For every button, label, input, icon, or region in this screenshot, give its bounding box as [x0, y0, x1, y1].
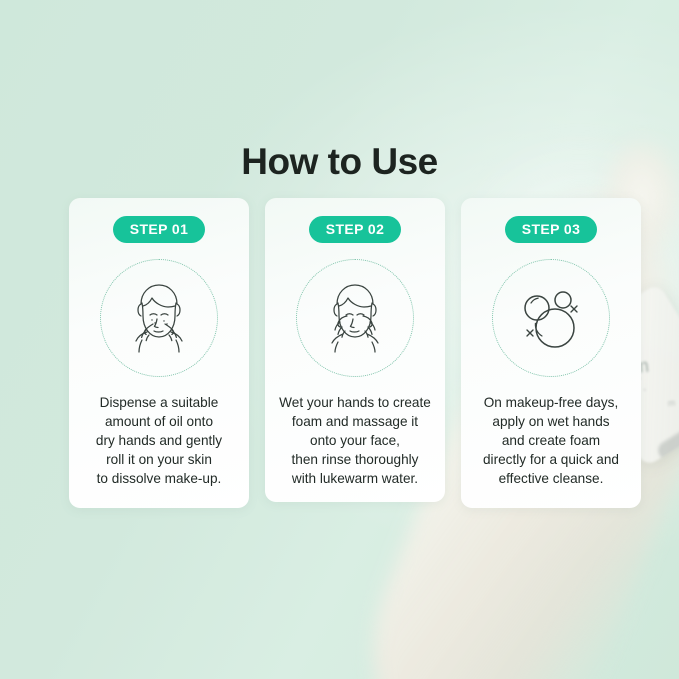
- step-card-1: STEP 01: [69, 198, 249, 508]
- tube-cap: [655, 423, 679, 463]
- step-badge-3: STEP 03: [505, 216, 598, 243]
- how-to-use-panel: p:rem m How to Use STEP 01: [0, 0, 679, 679]
- face-oil-roll-icon: [111, 270, 207, 366]
- page-title: How to Use: [0, 141, 679, 183]
- step-badge-1: STEP 01: [113, 216, 206, 243]
- tube-sub-text: m: [667, 398, 676, 409]
- step-text-3: On makeup-free days, apply on wet hands …: [483, 393, 619, 488]
- step-icon-circle-1: [100, 259, 218, 377]
- step-text-1: Dispense a suitable amount of oil onto d…: [96, 393, 222, 488]
- steps-card-list: STEP 01: [69, 198, 641, 508]
- face-massage-foam-icon: [307, 270, 403, 366]
- step-icon-circle-2: [296, 259, 414, 377]
- step-text-2: Wet your hands to create foam and massag…: [279, 393, 431, 488]
- step-badge-2: STEP 02: [309, 216, 402, 243]
- step-card-3: STEP 03 On makeup-free days, apply on we…: [461, 198, 641, 508]
- step-card-2: STEP 02: [265, 198, 445, 502]
- step-icon-circle-3: [492, 259, 610, 377]
- foam-bubbles-icon: [503, 270, 599, 366]
